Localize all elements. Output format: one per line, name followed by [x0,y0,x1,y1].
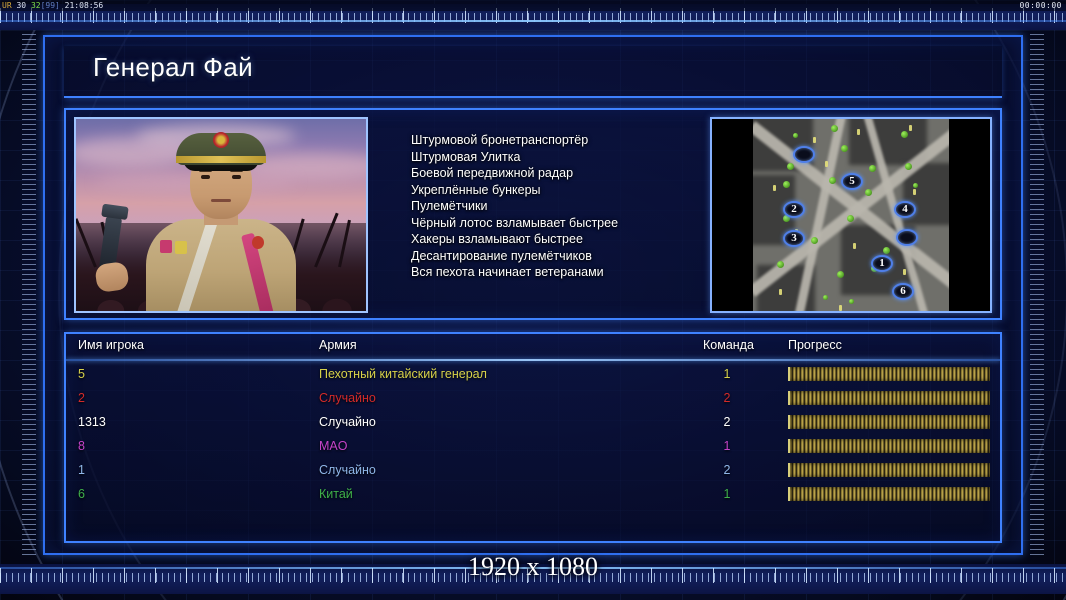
player-army: Случайно [319,410,376,434]
portrait-eye [201,175,210,179]
player-team: 2 [716,410,738,434]
progress-bar-fill [788,367,990,381]
ability-item: Боевой передвижной радар [411,165,711,182]
minimap-start-position[interactable]: 3 [783,230,805,247]
players-panel: Имя игрока Армия Команда Прогресс 5Пехот… [64,332,1002,543]
table-row[interactable]: 6Китай1 [66,482,1000,506]
ability-item: Вся пехота начинает ветеранами [411,264,711,281]
minimap-start-position[interactable]: 6 [892,283,914,300]
player-army: Случайно [319,386,376,410]
column-header-team: Команда [703,338,754,352]
progress-bar-fill [788,439,990,453]
medal-icon [175,241,187,254]
portrait-mouth [211,199,231,202]
minimap-start-position[interactable]: 5 [841,173,863,190]
status-time: 21:08:56 [65,1,104,10]
info-panel: Штурмовой бронетранспортёр Штурмовая Ули… [64,108,1002,320]
player-army: MAO [319,434,347,458]
portrait-uniform [146,219,296,313]
player-name: 5 [78,362,85,386]
progress-bar-fill [788,391,990,405]
minimap-start-position[interactable] [793,146,815,163]
title-panel: Генерал Фай [64,46,1002,98]
player-team: 2 [716,386,738,410]
ability-item: Штурмовая Улитка [411,149,711,166]
ruler-top-line [0,20,1066,22]
ability-item: Хакеры взламывают быстрее [411,231,711,248]
page-title: Генерал Фай [93,52,253,83]
minimap-start-position[interactable]: 2 [783,201,805,218]
main-frame: Генерал Фай [43,35,1023,555]
status-value-2: 32 [31,1,41,10]
abilities-list: Штурмовой бронетранспортёр Штурмовая Ули… [411,132,711,281]
medal-icon [252,236,264,249]
column-header-name: Имя игрока [78,338,144,352]
minimap-start-position[interactable]: 4 [894,201,916,218]
portrait-cap-badge [213,132,229,148]
player-name: 2 [78,386,85,410]
ruler-left [22,34,36,556]
progress-bar-fill [788,415,990,429]
table-row[interactable]: 1313Случайно2 [66,410,1000,434]
player-progress [788,367,990,381]
table-row[interactable]: 8MAO1 [66,434,1000,458]
ability-item: Штурмовой бронетранспортёр [411,132,711,149]
player-name: 1313 [78,410,106,434]
player-progress [788,439,990,453]
player-army: Китай [319,482,353,506]
progress-bar-fill [788,463,990,477]
ability-item: Десантирование пулемётчиков [411,248,711,265]
header-divider [66,359,1000,361]
portrait-cap-band [176,156,266,163]
player-name: 6 [78,482,85,506]
column-header-army: Армия [319,338,357,352]
medal-icon [160,240,172,253]
progress-bar-fill [788,487,990,501]
player-team: 2 [716,458,738,482]
resolution-caption: 1920 x 1080 [0,552,1066,582]
table-row[interactable]: 5Пехотный китайский генерал1 [66,362,1000,386]
portrait-eye [232,175,241,179]
player-name: 1 [78,458,85,482]
player-progress [788,463,990,477]
ruler-right [1030,34,1044,556]
table-row[interactable]: 1Случайно2 [66,458,1000,482]
screen-background: UR 30 32[99] 21:08:56 00:00:00 Генерал Ф… [0,0,1066,600]
minimap-start-position[interactable] [896,229,918,246]
minimap-start-position[interactable]: 1 [871,255,893,272]
status-value-1: 30 [16,1,26,10]
status-clock: 00:00:00 [1019,0,1062,11]
column-header-progress: Прогресс [788,338,842,352]
status-bar: UR 30 32[99] 21:08:56 00:00:00 [0,0,1066,11]
player-progress [788,487,990,501]
ability-item: Чёрный лотос взламывает быстрее [411,215,711,232]
player-army: Случайно [319,458,376,482]
player-team: 1 [716,482,738,506]
status-bracket: [99] [41,1,60,10]
players-rows: 5Пехотный китайский генерал12Случайно213… [66,362,1000,506]
status-bar-left: UR 30 32[99] 21:08:56 [2,0,103,11]
player-team: 1 [716,362,738,386]
table-row[interactable]: 2Случайно2 [66,386,1000,410]
status-prefix: UR [2,1,12,10]
player-name: 8 [78,434,85,458]
player-progress [788,415,990,429]
general-portrait [74,117,368,313]
player-progress [788,391,990,405]
ability-item: Укреплённые бункеры [411,182,711,199]
ability-item: Пулемётчики [411,198,711,215]
player-army: Пехотный китайский генерал [319,362,487,386]
minimap[interactable]: 5 2 3 4 1 6 [753,119,949,311]
player-team: 1 [716,434,738,458]
minimap-frame[interactable]: 5 2 3 4 1 6 [710,117,992,313]
